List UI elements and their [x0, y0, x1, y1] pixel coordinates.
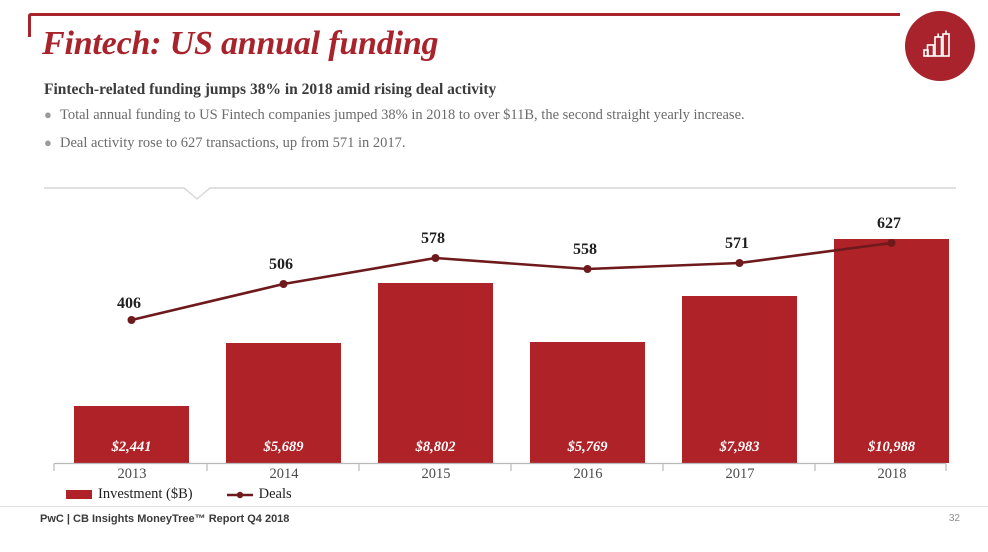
deals-point-2014: [280, 280, 288, 288]
list-item: ● Total annual funding to US Fintech com…: [44, 106, 924, 126]
deals-point-2016: [584, 265, 592, 273]
bar-2018: [834, 239, 949, 463]
bar-2015: [378, 283, 493, 463]
bullet-dot-icon: ●: [44, 106, 60, 124]
x-tick-2014: 2014: [252, 466, 316, 483]
deals-label: 406: [117, 295, 141, 312]
x-tick-2017: 2017: [708, 466, 772, 483]
footer-source: PwC | CB Insights MoneyTree™ Report Q4 2…: [40, 513, 289, 525]
bar-label: $2,441: [111, 439, 152, 455]
legend-square-icon: [66, 490, 92, 499]
slide: Fintech: US annual funding Fintech-relat…: [0, 0, 988, 552]
legend-label: Investment ($B): [98, 486, 193, 503]
logo-circle: [905, 11, 975, 81]
bar-series: [74, 239, 949, 463]
bullet-text: Deal activity rose to 627 transactions, …: [60, 134, 924, 154]
x-tick-2016: 2016: [556, 466, 620, 483]
chart-canvas: $2,441 $5,689 $8,802 $5,769 $7,983 $10,9…: [44, 212, 956, 474]
deals-label: 627: [877, 215, 901, 232]
bar-label: $5,769: [567, 439, 608, 455]
legend-item-deals[interactable]: Deals: [227, 486, 292, 503]
x-tick-2015: 2015: [404, 466, 468, 483]
deals-point-2017: [736, 259, 744, 267]
deals-label: 578: [421, 230, 445, 247]
deals-label: 558: [573, 241, 597, 258]
bar-label: $10,988: [867, 439, 916, 455]
bullet-list: ● Total annual funding to US Fintech com…: [44, 106, 924, 161]
bar-label: $8,802: [415, 439, 456, 455]
bar-chart-skyline-icon: [922, 28, 958, 64]
deals-point-2018: [888, 239, 896, 247]
deals-point-2015: [432, 254, 440, 262]
page-title: Fintech: US annual funding: [42, 25, 438, 63]
x-tick-2018: 2018: [860, 466, 924, 483]
chart-legend: Investment ($B) Deals: [66, 486, 292, 503]
x-tick-2013: 2013: [100, 466, 164, 483]
footer-divider: [0, 506, 988, 507]
bar-2017: [682, 296, 797, 463]
deals-label: 506: [269, 256, 293, 273]
list-item: ● Deal activity rose to 627 transactions…: [44, 134, 924, 154]
x-axis-labels: 2013 2014 2015 2016 2017 2018: [44, 466, 956, 486]
bar-label: $7,983: [719, 439, 760, 455]
deals-point-2013: [128, 316, 136, 324]
bullet-text: Total annual funding to US Fintech compa…: [60, 106, 924, 126]
section-divider: [44, 183, 956, 201]
legend-line-dot-icon: [227, 490, 253, 500]
legend-label: Deals: [259, 486, 292, 503]
bullet-dot-icon: ●: [44, 134, 60, 152]
bar-label: $5,689: [263, 439, 304, 455]
legend-item-investment[interactable]: Investment ($B): [66, 486, 193, 503]
deals-label: 571: [725, 235, 749, 252]
page-number: 32: [949, 513, 960, 524]
subtitle: Fintech-related funding jumps 38% in 201…: [44, 81, 496, 99]
